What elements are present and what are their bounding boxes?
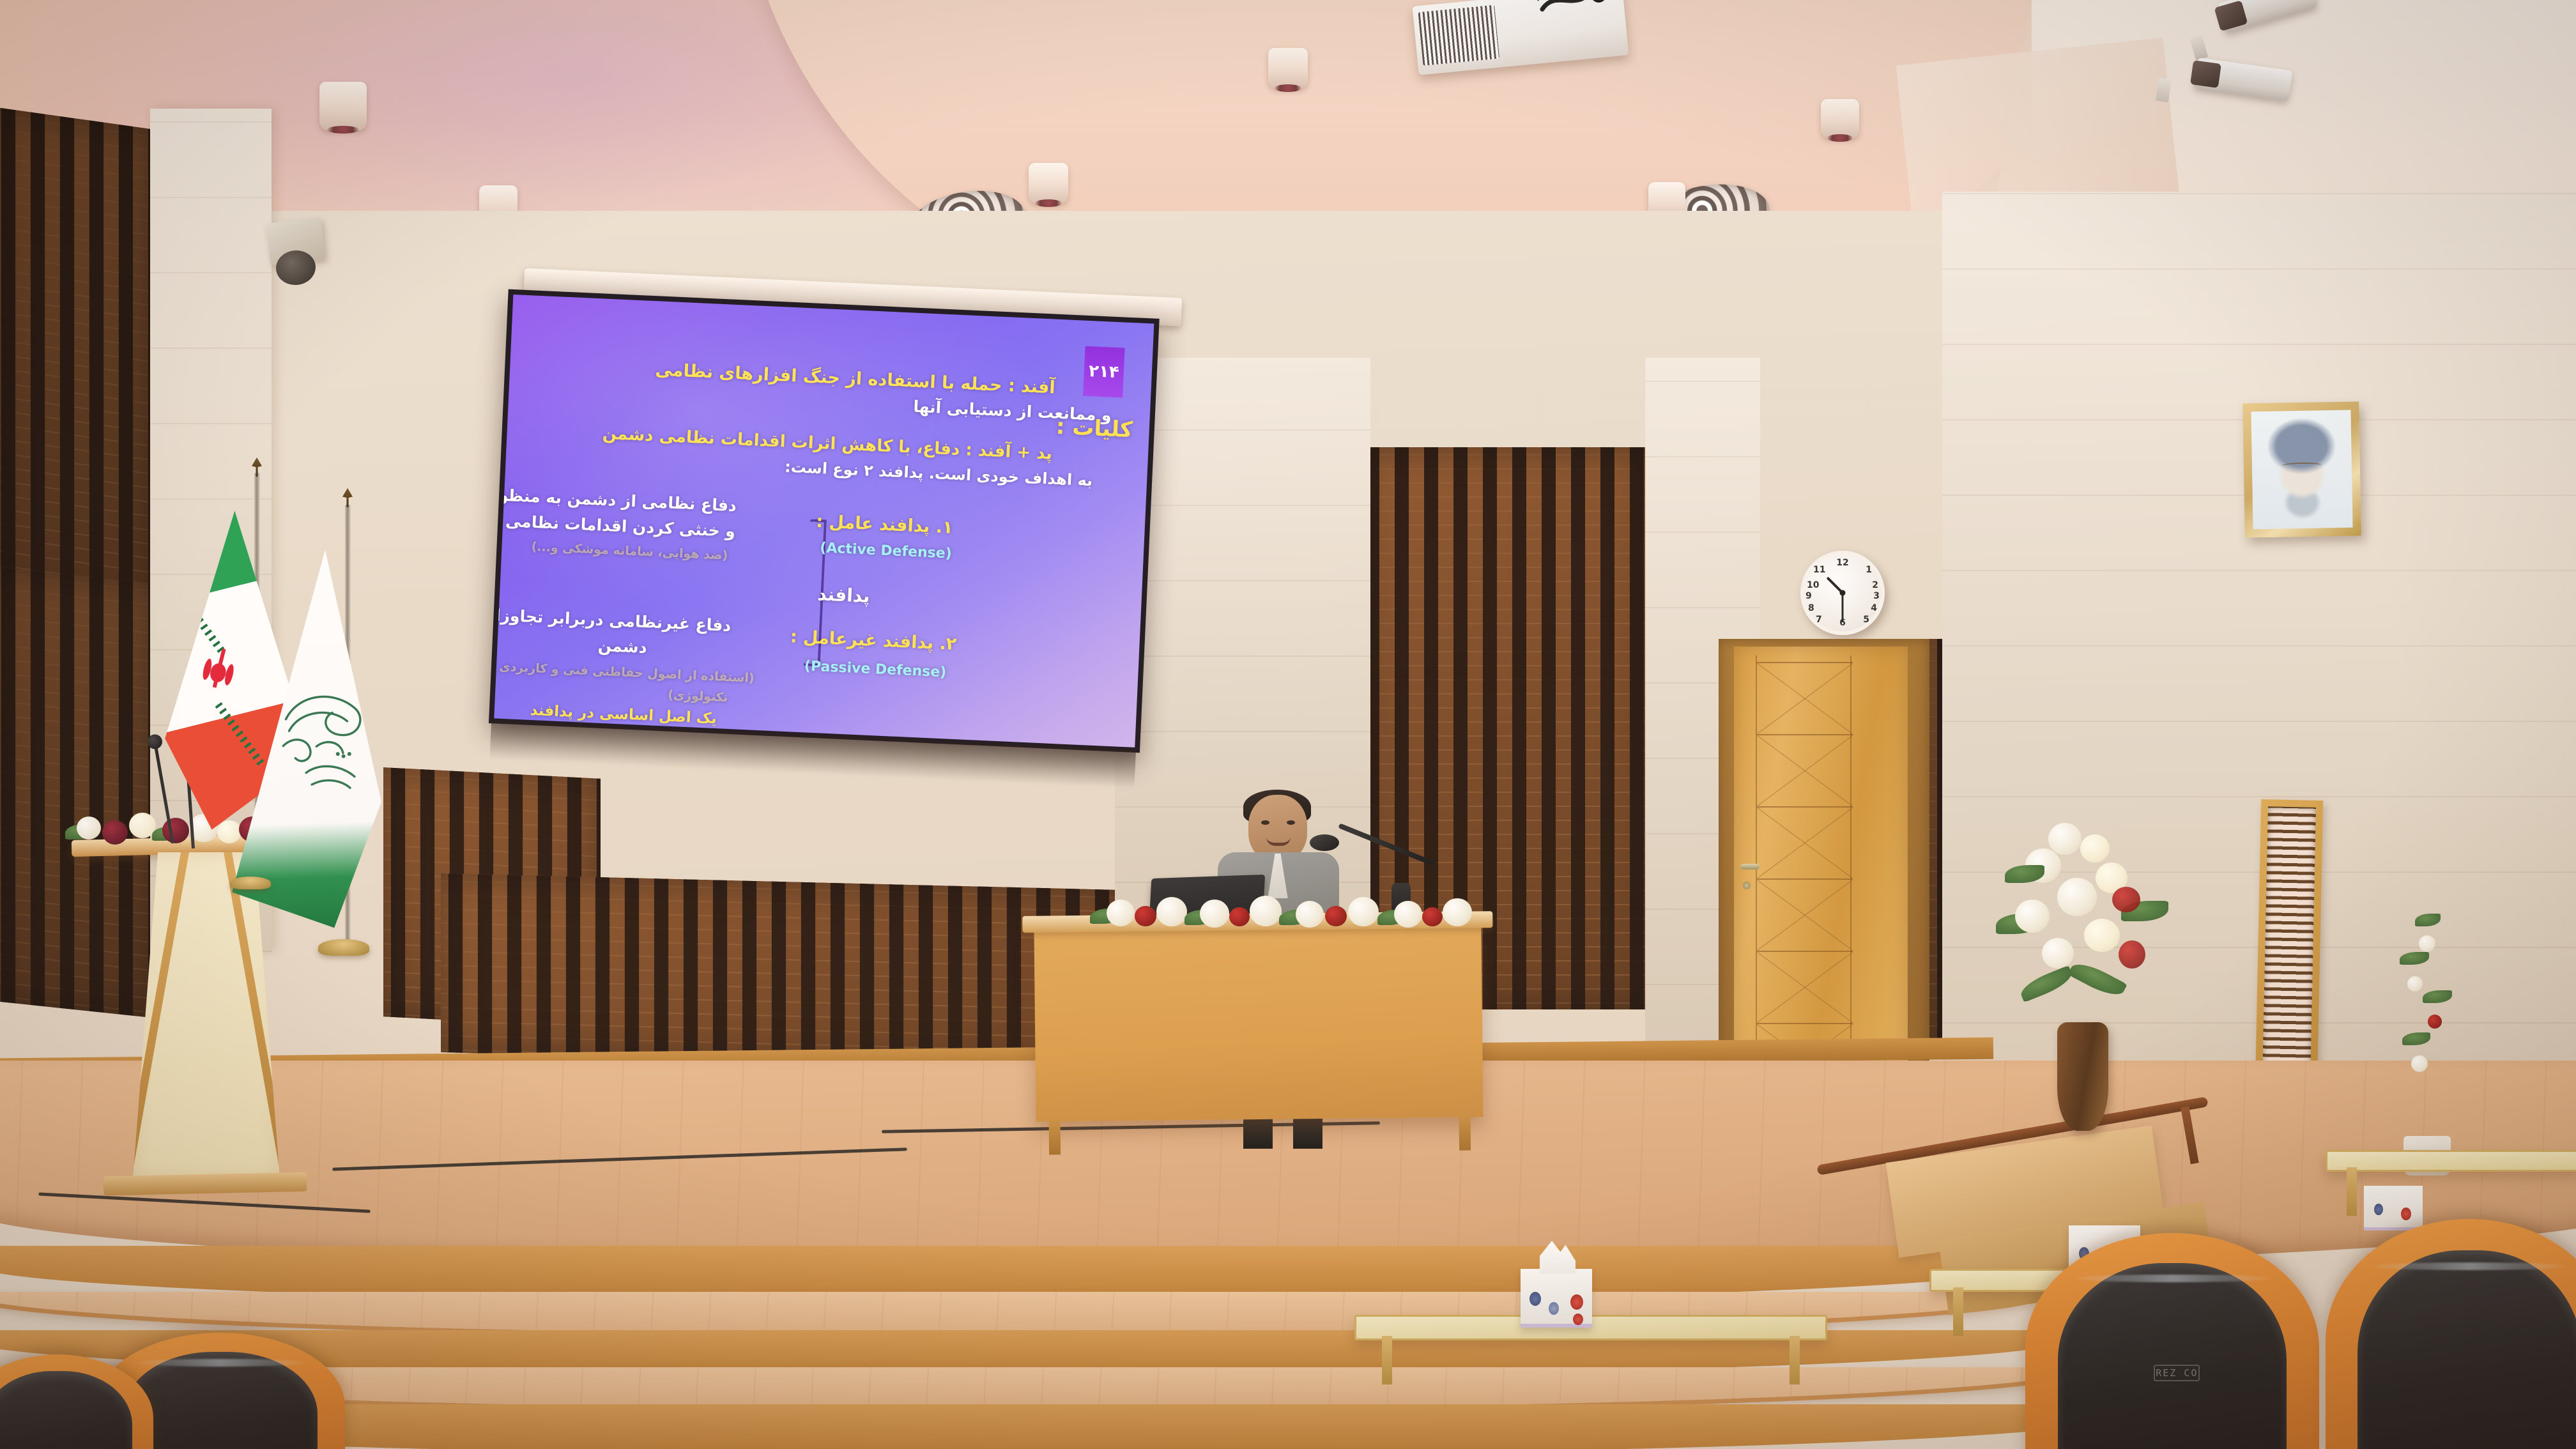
slide-item1-english: (Active Defense) [820, 540, 952, 562]
projector-vent [1418, 5, 1499, 66]
acoustic-panel [441, 873, 1118, 1069]
iran-emblem-icon [192, 643, 247, 693]
table-leg [1953, 1287, 1963, 1336]
slide-line-2: و ممانعت از دستیابی آنها [913, 397, 1112, 425]
clock-numeral: 10 [1807, 580, 1819, 590]
desk-leg [1459, 1115, 1471, 1151]
projector-cables [1537, 0, 1629, 20]
door-diamond [1757, 806, 1853, 878]
clock-numeral: 1 [1866, 565, 1872, 575]
table-leg [2347, 1167, 2357, 1216]
presenter-desk [1034, 925, 1483, 1121]
seat-backrest [0, 1371, 132, 1449]
cctv-lens-icon [2190, 60, 2221, 88]
lectern-base [103, 1172, 307, 1196]
seat-backrest: REZ CO [2058, 1263, 2287, 1449]
slide-item2-english: (Passive Defense) [804, 658, 946, 680]
slide-item1-label: ۱. پدافند عامل : [816, 512, 954, 538]
clock-center-cap [1840, 590, 1846, 596]
clock-numeral: 9 [1805, 591, 1812, 601]
slide-item2-desc2: دشمن [597, 636, 647, 657]
door-diamond [1757, 878, 1853, 951]
presenter-eye [1261, 820, 1269, 825]
clock-numeral: 7 [1816, 615, 1822, 625]
auditorium-scene: ۲۱۴ کلیات : آفند : حمله با استفاده از جن… [0, 0, 2576, 1449]
slide-item1-desc1: دفاع نظامی از دشمن به منظور دفع حمله [494, 482, 737, 515]
slide-item1-note: (ضد هوایی، سامانه موشکی و...) [531, 540, 728, 563]
clock-numeral: 4 [1871, 603, 1877, 613]
auditorium-seat[interactable]: REZ CO [2025, 1233, 2319, 1449]
flower-vase [2057, 1022, 2108, 1131]
seat-backrest [2357, 1250, 2576, 1449]
door-lock-icon[interactable] [1743, 882, 1751, 889]
clock-numeral: 2 [1872, 580, 1878, 590]
framed-portrait [2242, 401, 2361, 537]
clock-numeral: 3 [1873, 591, 1880, 601]
slide-item2-note1: (استفاده از اصول حفاظتی فنی و کاربردی [499, 660, 755, 686]
screen-frame: ۲۱۴ کلیات : آفند : حمله با استفاده از جن… [489, 289, 1160, 753]
slide-branch-label: پدافند [817, 583, 871, 607]
acoustic-panel [0, 107, 153, 615]
seat-highlight [2073, 1275, 2273, 1282]
slide-line-1: آفند : حمله با استفاده از جنگ افزارهای ن… [655, 360, 1055, 397]
door-handle-icon[interactable] [1740, 864, 1759, 870]
flag-stand [318, 939, 369, 956]
slide-item1-desc2: و خنثی کردن اقدامات نظامی [505, 512, 735, 540]
ceiling-downlight-icon [319, 82, 367, 130]
clock-numeral: 8 [1808, 603, 1814, 613]
vase-flower-arrangement [1987, 818, 2185, 1035]
table-leg [1382, 1336, 1392, 1384]
slide-item2-desc1: دفاع غیرنظامی دربرابر تجاوزات نظامی و غی… [494, 598, 732, 635]
wall-clock: 12 1 2 3 4 5 6 7 8 9 10 11 [1800, 551, 1885, 635]
ceiling-downlight-icon [1821, 99, 1859, 139]
flag-kufic-band [215, 702, 266, 769]
door-panel [1756, 655, 1851, 1090]
ceiling-downlight-icon [1268, 48, 1308, 89]
tissue-box [1521, 1269, 1592, 1328]
seat-brand-badge: REZ CO [2154, 1365, 2200, 1381]
decorative-plant [2389, 907, 2466, 1176]
projection-screen: ۲۱۴ کلیات : آفند : حمله با استفاده از جن… [479, 266, 1183, 884]
slide-number-badge: ۲۱۴ [1083, 346, 1124, 398]
wooden-door[interactable] [1734, 647, 1908, 1104]
presenter-eye [1287, 820, 1295, 825]
table-leg [1790, 1336, 1800, 1384]
microphone-head-icon [1310, 834, 1339, 851]
tissue-box [2364, 1186, 2423, 1230]
desk-leg [1049, 1119, 1061, 1154]
slide-line-3: پد + آفند : دفاع، با کاهش اثرات اقدامات … [602, 424, 1052, 464]
door-diamond [1757, 734, 1853, 806]
portrait-image [2251, 410, 2352, 530]
auditorium-seat[interactable] [2326, 1219, 2576, 1449]
slide-content: ۲۱۴ کلیات : آفند : حمله با استفاده از جن… [494, 295, 1154, 747]
presenter-head [1248, 795, 1307, 861]
door-diamond [1757, 951, 1853, 1023]
clock-numeral: 12 [1836, 558, 1848, 568]
side-table [2326, 1150, 2576, 1172]
door-diamond [1757, 662, 1853, 734]
ceiling-downlight-icon [1029, 163, 1068, 204]
slide-item2-note2: تکنولوژی) [668, 688, 728, 705]
clock-numeral: 11 [1813, 565, 1825, 575]
flag-stand [230, 877, 271, 889]
clock-minute-hand [1842, 593, 1844, 622]
desk-flower-arrangement [1090, 889, 1486, 935]
organization-logo-icon [274, 669, 371, 808]
clock-numeral: 5 [1863, 615, 1869, 625]
